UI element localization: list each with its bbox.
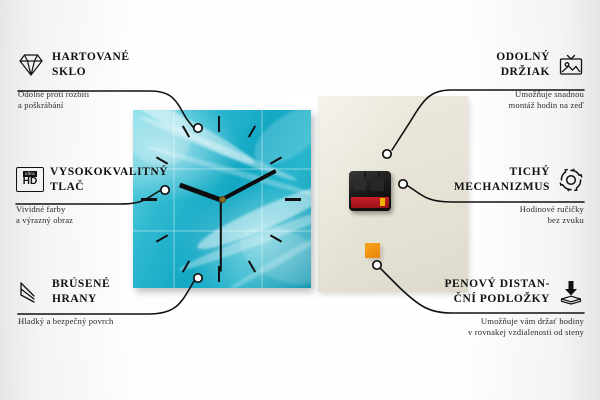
feature-title: HRANY — [52, 292, 110, 307]
ultra-hd-icon: ultra HD — [16, 167, 42, 193]
feature-desc: Umožňuje vám držať hodiny — [374, 316, 584, 327]
infographic-canvas: HARTOVANÉ SKLO Odolné proti rozbití a po… — [0, 0, 600, 400]
feature-title: ODOLNÝ — [496, 50, 550, 65]
callout-dot-left-1 — [194, 124, 202, 132]
feature-desc: Hladký a bezpečný povrch — [18, 316, 213, 327]
feature-title: DRŽIAK — [496, 65, 550, 80]
callout-dot-right-1 — [383, 150, 391, 158]
feature-silent-mechanism: TICHÝ MECHANIZMUS Hodinové ručičky bez z… — [394, 165, 584, 227]
foam-pad-arrow-icon — [558, 279, 584, 305]
feature-title: SKLO — [52, 65, 130, 80]
callout-dot-right-3 — [373, 261, 381, 269]
gear-icon — [558, 167, 584, 193]
diamond-icon — [18, 52, 44, 78]
feature-foam-spacers: PENOVÝ DISTAN- ČNÍ PODLOŽKY Umožňuje vám… — [374, 277, 584, 339]
ground-edges-icon — [18, 279, 44, 305]
feature-title: TLAČ — [50, 180, 168, 195]
feature-ground-edges: BRÚSENÉ HRANY Hladký a bezpečný povrch — [18, 277, 213, 327]
feature-title: TICHÝ — [454, 165, 550, 180]
feature-desc: Odolné proti rozbití — [18, 89, 203, 100]
feature-desc: bez zvuku — [394, 215, 584, 226]
feature-desc: a výrazný obraz — [16, 215, 206, 226]
feature-title: BRÚSENÉ — [52, 277, 110, 292]
feature-hardened-glass: HARTOVANÉ SKLO Odolné proti rozbití a po… — [18, 50, 203, 112]
feature-desc: v rovnakej vzdialenosti od steny — [374, 327, 584, 338]
feature-desc: a poškrábání — [18, 100, 203, 111]
feature-desc: Hodinové ručičky — [394, 204, 584, 215]
feature-desc: Umožňuje snadnou — [399, 89, 584, 100]
feature-desc: Vividné farby — [16, 204, 206, 215]
feature-title: HARTOVANÉ — [52, 50, 130, 65]
feature-title: VYSOKOKVALITNÝ — [50, 165, 168, 180]
feature-title: PENOVÝ DISTAN- — [444, 277, 550, 292]
feature-desc: montáž hodin na zeď — [399, 100, 584, 111]
feature-hq-print: ultra HD VYSOKOKVALITNÝ TLAČ Vividné far… — [16, 165, 206, 227]
feature-title: MECHANIZMUS — [454, 180, 550, 195]
feature-durable-hanger: ODOLNÝ DRŽIAK Umožňuje snadnou montáž ho… — [399, 50, 584, 112]
feature-title: ČNÍ PODLOŽKY — [444, 292, 550, 307]
ultra-hd-big-label: HD — [23, 177, 37, 188]
picture-frame-hanger-icon — [558, 52, 584, 78]
